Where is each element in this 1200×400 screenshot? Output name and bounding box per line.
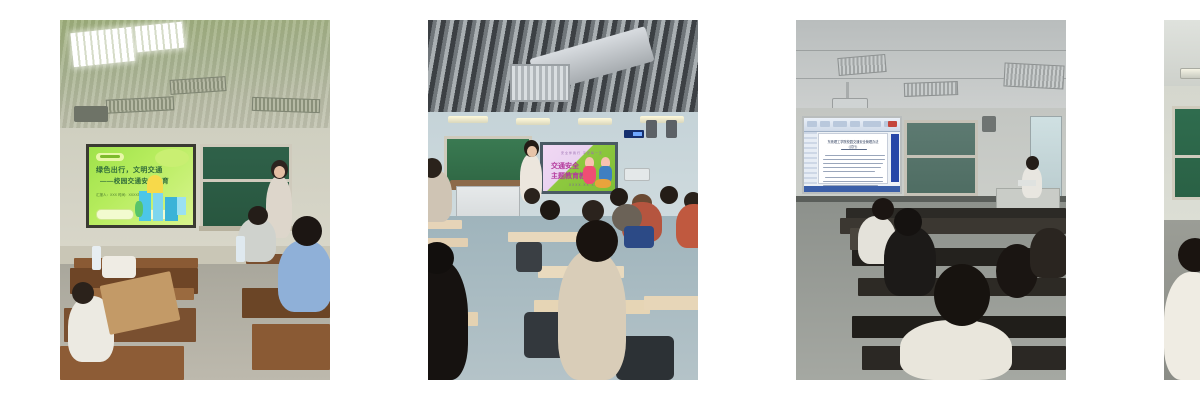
foreground-student-body xyxy=(900,320,1012,380)
foreground-student-body xyxy=(558,250,626,380)
ac-vent xyxy=(510,64,570,102)
strip-light xyxy=(578,118,612,125)
photo-gallery-strip: 绿色出行，文明交通 ——校园交通安全教育 汇报人：XXX 时间：XXXX年XX月 xyxy=(0,0,1200,400)
water-bottle xyxy=(92,246,101,270)
blackboard-ledge-line xyxy=(1175,155,1200,158)
slide-date: XXXX.XX.XX xyxy=(569,183,598,187)
taskbar xyxy=(804,186,900,192)
projection-screen: 东莞理工学院校园交通安全管理办法（试行） xyxy=(802,116,902,194)
wall-speaker xyxy=(982,116,996,132)
student-body xyxy=(884,226,936,296)
blackboard xyxy=(1172,106,1200,200)
toolbar-button xyxy=(850,121,860,127)
ceiling-vent xyxy=(904,81,958,97)
student-head xyxy=(524,188,540,204)
toolbar-button xyxy=(863,121,881,127)
blackboard xyxy=(904,120,978,196)
slide-button-1 xyxy=(96,209,134,220)
backpack xyxy=(624,226,654,248)
lecturer-head xyxy=(1026,156,1039,170)
desk-row xyxy=(644,296,698,310)
student-head xyxy=(72,282,94,304)
lecturer-face xyxy=(274,166,285,178)
close-icon[interactable] xyxy=(888,121,897,127)
projection-screen: 安全伴我行 平安每一天 交通安全 主题教育教学 XXXX.XX.XX xyxy=(540,142,618,194)
toolbar-button xyxy=(833,121,847,127)
slide-dog-illustration xyxy=(595,179,611,188)
foreground-student-head xyxy=(576,220,618,262)
laptop xyxy=(1018,180,1036,186)
photo-1[interactable]: 绿色出行，文明交通 ——校园交通安全教育 汇报人：XXX 时间：XXXX年XX月 xyxy=(60,20,330,380)
student-body xyxy=(1164,272,1200,380)
ceiling-light-panel xyxy=(70,27,135,67)
document-line xyxy=(823,163,883,164)
photo-2[interactable]: 安全伴我行 平安每一天 交通安全 主题教育教学 XXXX.XX.XX xyxy=(428,20,698,380)
projector xyxy=(74,106,108,122)
wall-speaker xyxy=(646,120,657,138)
document-line xyxy=(823,167,881,168)
document-title: 东莞理工学院校园交通安全管理办法（试行） xyxy=(825,139,881,149)
student-head xyxy=(660,186,678,204)
desk-row xyxy=(252,324,330,370)
projection-screen: 绿色出行，文明交通 ——校园交通安全教育 汇报人：XXX 时间：XXXX年XX月 xyxy=(86,144,196,228)
water-bottle xyxy=(236,236,245,262)
strip-light xyxy=(516,118,550,125)
ceiling-light-panel xyxy=(135,22,185,53)
student-head xyxy=(582,200,604,222)
document-section-heading xyxy=(841,149,867,150)
slide-title-line-1: 交通安全 xyxy=(551,161,579,171)
ceiling-seam xyxy=(796,50,1066,51)
toolbar-button xyxy=(820,121,830,127)
slide-tag-pill xyxy=(96,153,124,161)
blackboard-ledge-line xyxy=(907,155,975,158)
wall-clock-display xyxy=(624,130,644,138)
student-head xyxy=(872,198,894,220)
slide-tag: 安全伴我行 平安每一天 xyxy=(561,151,603,155)
document-line xyxy=(825,155,885,156)
student-head xyxy=(540,200,560,220)
student-body xyxy=(278,240,330,312)
plastic-bag xyxy=(102,256,136,278)
strip-light xyxy=(448,116,488,123)
foreground-student-head xyxy=(934,264,990,326)
student-body xyxy=(676,204,698,248)
student-head xyxy=(248,206,268,225)
student-head xyxy=(292,216,322,246)
slide-city-illustration xyxy=(133,165,191,223)
chair xyxy=(516,242,542,272)
student-head xyxy=(894,208,922,236)
document-line xyxy=(823,159,885,160)
strip-light xyxy=(1180,68,1200,79)
toolbar-button xyxy=(807,121,817,127)
ceiling-light-panel xyxy=(1003,62,1064,89)
document-line xyxy=(825,177,883,178)
photo-4[interactable]: 04 校园交通安全管理 东莞理工学院安全保卫部 第二章 入校管理 第三章 行人管… xyxy=(1164,20,1200,380)
document-line xyxy=(823,181,883,182)
document-page: 东莞理工学院校园交通安全管理办法（试行） xyxy=(818,133,888,184)
student-body xyxy=(1030,228,1066,278)
photo-3[interactable]: 东莞理工学院校园交通安全管理办法（试行） xyxy=(796,20,1066,380)
wall-speaker xyxy=(666,120,677,138)
document-line xyxy=(823,171,875,172)
ceiling-vent xyxy=(252,97,320,113)
document-toolbar xyxy=(804,118,900,132)
wall-ac-unit xyxy=(624,168,650,181)
document-navigation-pane[interactable] xyxy=(804,132,817,184)
scrollbar[interactable] xyxy=(891,134,899,182)
presenter-face xyxy=(527,146,537,157)
ceiling xyxy=(1164,20,1200,90)
